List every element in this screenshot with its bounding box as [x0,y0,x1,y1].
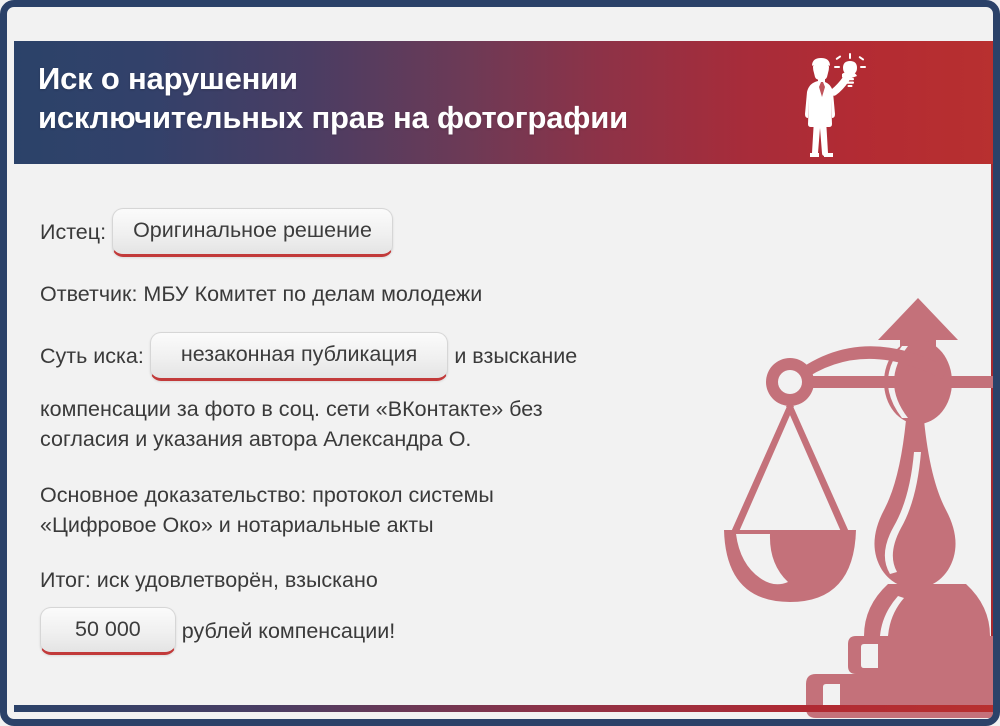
evidence-text: Основное доказательство: протокол систем… [40,480,774,541]
plaintiff-badge[interactable]: Оригинальное решение [112,208,393,257]
header-band: Иск о нарушении исключительных прав на ф… [14,41,1000,164]
claim-label: Суть иска: [40,342,144,371]
businessman-with-lightbulb-icon [788,53,868,163]
defendant-row: Ответчик: МБУ Комитет по делам молодежи [40,280,774,309]
result-row: Итог: иск удовлетворён, взыскано [40,566,774,595]
result-text: Итог: иск удовлетворён, взыскано [40,566,378,595]
claim-continuation: компенсации за фото в соц. сети «ВКонтак… [40,394,774,455]
amount-row: 50 000 рублей компенсации! [40,607,774,656]
claim-badge[interactable]: незаконная публикация [150,332,448,381]
right-accent-stripe [991,164,1000,719]
amount-badge[interactable]: 50 000 [40,607,176,656]
claim-row: Суть иска: незаконная публикация и взыск… [40,332,774,381]
top-strip [14,14,1000,41]
card-frame: Иск о нарушении исключительных прав на ф… [0,0,1000,726]
amount-suffix: рублей компенсации! [182,617,395,646]
content-column: Истец: Оригинальное решение Ответчик: МБ… [14,164,774,655]
infographic-card: Иск о нарушении исключительных прав на ф… [0,0,1000,726]
claim-suffix: и взыскание [454,342,577,371]
bottom-gradient-bar [14,705,1000,712]
plaintiff-row: Истец: Оригинальное решение [40,208,774,257]
page-title: Иск о нарушении исключительных прав на ф… [38,59,628,138]
defendant-text: Ответчик: МБУ Комитет по делам молодежи [40,280,482,309]
card-body: Истец: Оригинальное решение Ответчик: МБ… [14,164,1000,719]
plaintiff-label: Истец: [40,218,106,247]
